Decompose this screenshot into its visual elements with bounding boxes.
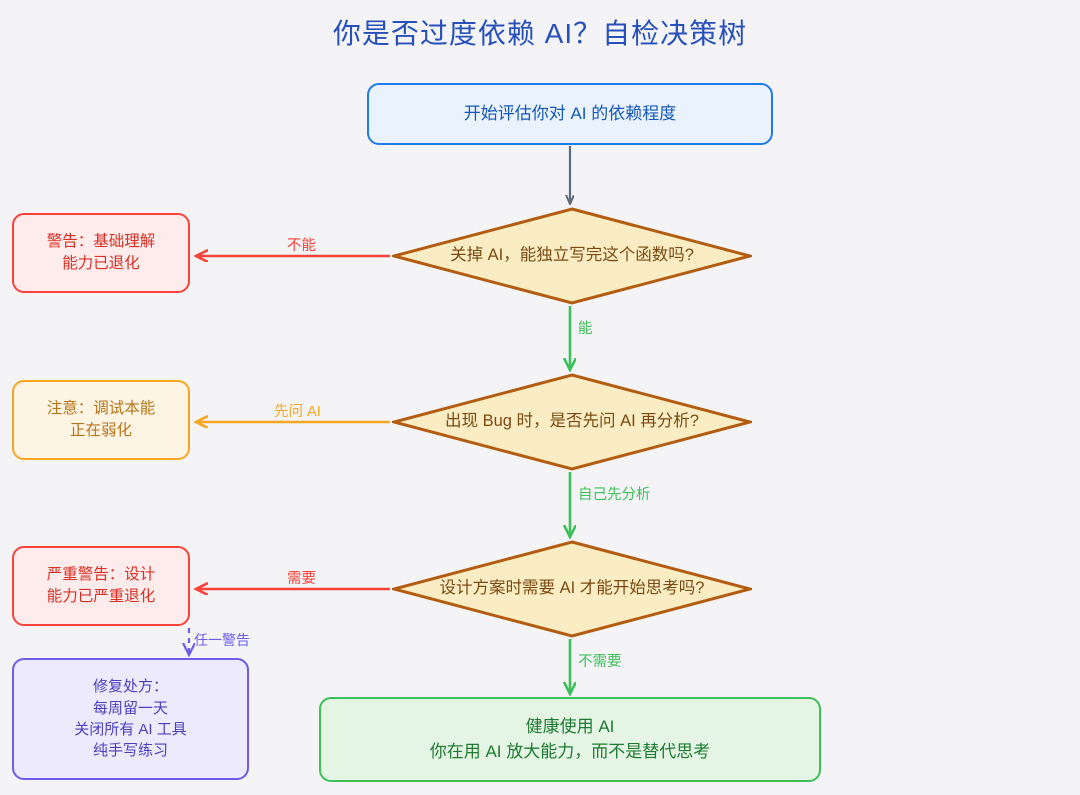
node-healthy-line-0: 健康使用 AI bbox=[526, 715, 615, 739]
node-decision-design-needs-ai[interactable]: 设计方案时需要 AI 才能开始思考吗? bbox=[392, 540, 752, 638]
node-warning-basic-understanding[interactable]: 警告：基础理解 能力已退化 bbox=[12, 213, 190, 293]
node-warning1-line-0: 警告：基础理解 bbox=[47, 231, 156, 253]
node-warning-debug-instinct[interactable]: 注意：调试本能 正在弱化 bbox=[12, 380, 190, 460]
node-fix-line-0: 修复处方： bbox=[93, 676, 168, 697]
node-warning1-line-1: 能力已退化 bbox=[62, 253, 140, 275]
flowchart-canvas: 你是否过度依赖 AI？自检决策树 bbox=[0, 0, 1080, 795]
node-warning2-line-0: 注意：调试本能 bbox=[47, 398, 156, 420]
node-warning2-line-1: 正在弱化 bbox=[70, 420, 132, 442]
node-decision1-line-0: 关掉 AI，能独立写完这个函数吗? bbox=[450, 244, 694, 267]
node-fix-line-3: 纯手写练习 bbox=[93, 740, 168, 761]
node-start-line-0: 开始评估你对 AI 的依赖程度 bbox=[464, 102, 677, 126]
edge-label-not-need: 不需要 bbox=[578, 650, 622, 671]
node-warning3-line-1: 能力已严重退化 bbox=[47, 586, 156, 608]
node-healthy-line-1: 你在用 AI 放大能力，而不是替代思考 bbox=[430, 740, 711, 764]
edge-label-analyze-self: 自己先分析 bbox=[578, 483, 651, 504]
node-start[interactable]: 开始评估你对 AI 的依赖程度 bbox=[367, 83, 773, 145]
node-fix-line-2: 关闭所有 AI 工具 bbox=[74, 719, 187, 740]
node-warning-design-ability[interactable]: 严重警告：设计 能力已严重退化 bbox=[12, 546, 190, 626]
edge-label-any-warning: 任一警告 bbox=[194, 630, 250, 650]
node-warning3-line-0: 严重警告：设计 bbox=[47, 564, 156, 586]
edge-label-can: 能 bbox=[578, 317, 593, 338]
node-decision2-line-0: 出现 Bug 时，是否先问 AI 再分析? bbox=[445, 410, 699, 433]
edge-label-ask-ai-first: 先问 AI bbox=[274, 400, 321, 421]
node-decision-bug-ask-ai[interactable]: 出现 Bug 时，是否先问 AI 再分析? bbox=[392, 373, 752, 471]
edge-label-no-ability: 不能 bbox=[287, 234, 316, 255]
edge-label-need: 需要 bbox=[287, 567, 316, 588]
node-fix-line-1: 每周留一天 bbox=[93, 698, 168, 719]
node-healthy-ai-usage[interactable]: 健康使用 AI 你在用 AI 放大能力，而不是替代思考 bbox=[319, 697, 821, 782]
node-fix-prescription[interactable]: 修复处方： 每周留一天 关闭所有 AI 工具 纯手写练习 bbox=[12, 658, 249, 780]
node-decision-independent-function[interactable]: 关掉 AI，能独立写完这个函数吗? bbox=[392, 207, 752, 305]
node-decision3-line-0: 设计方案时需要 AI 才能开始思考吗? bbox=[440, 577, 705, 600]
page-title: 你是否过度依赖 AI？自检决策树 bbox=[0, 12, 1080, 52]
